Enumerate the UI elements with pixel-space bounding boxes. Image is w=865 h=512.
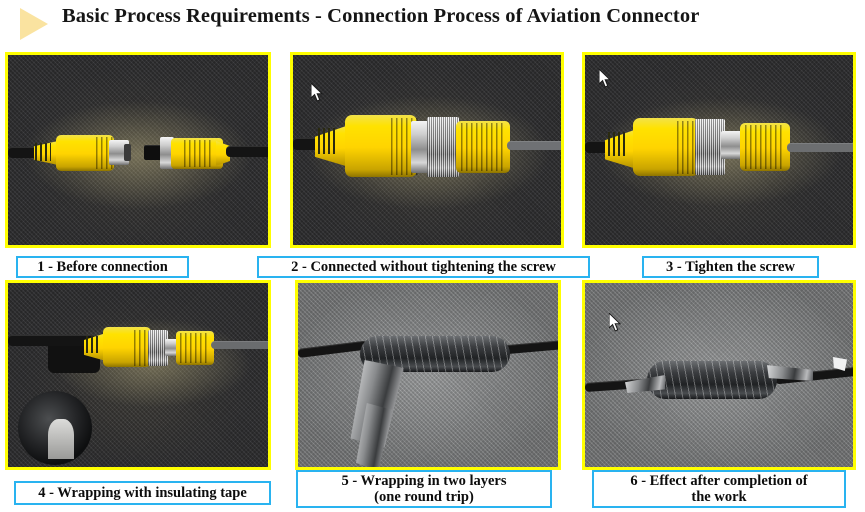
slide-header: Basic Process Requirements - Connection … (0, 0, 865, 46)
grip-ribs-right (461, 123, 505, 171)
mouse-cursor-icon (311, 83, 324, 102)
triangle-right-icon (20, 8, 48, 40)
pin-socket-left (124, 144, 131, 161)
vent-slots-left (86, 336, 100, 353)
vent-slots-left (35, 143, 51, 161)
step-photo-6[interactable] (582, 280, 856, 470)
knurled-screw-ring (427, 117, 459, 177)
cable-left (8, 335, 96, 346)
photo-5-content (298, 283, 558, 467)
step-caption-6: 6 - Effect after completion of the work (592, 470, 846, 508)
step-photo-2[interactable] (290, 52, 564, 248)
vent-slots-left (608, 132, 625, 156)
photo-1-content (8, 55, 268, 245)
photo-2-content (293, 55, 561, 245)
step-caption-5: 5 - Wrapping in two layers (one round tr… (296, 470, 552, 508)
page-title: Basic Process Requirements - Connection … (62, 5, 699, 28)
slide-root: Basic Process Requirements - Connection … (0, 0, 865, 512)
mouse-cursor-icon (599, 69, 612, 88)
cable-right (787, 143, 853, 152)
cable-right (211, 341, 268, 349)
fabric-background (298, 283, 558, 467)
grip-ribs-right (184, 140, 214, 167)
grip-ribs-right (745, 125, 785, 169)
step-caption-1: 1 - Before connection (16, 256, 189, 278)
step-photo-4[interactable] (5, 280, 271, 470)
photo-4-content (8, 283, 268, 467)
mouse-cursor-icon (609, 313, 622, 332)
step-photo-3[interactable] (582, 52, 856, 248)
step-photo-5[interactable] (295, 280, 561, 470)
photo-6-content (585, 283, 853, 467)
cable-right (507, 141, 561, 150)
vent-slots-left (318, 128, 336, 154)
cable-right (226, 146, 268, 157)
photo-3-content (585, 55, 853, 245)
step-caption-4: 4 - Wrapping with insulating tape (14, 481, 271, 505)
tape-roll-core (48, 419, 74, 459)
step-caption-2: 2 - Connected without tightening the scr… (257, 256, 590, 278)
step-caption-3: 3 - Tighten the screw (642, 256, 819, 278)
grip-ribs-right (180, 333, 210, 363)
step-photo-1[interactable] (5, 52, 271, 248)
wrapped-tape-body (647, 361, 777, 399)
